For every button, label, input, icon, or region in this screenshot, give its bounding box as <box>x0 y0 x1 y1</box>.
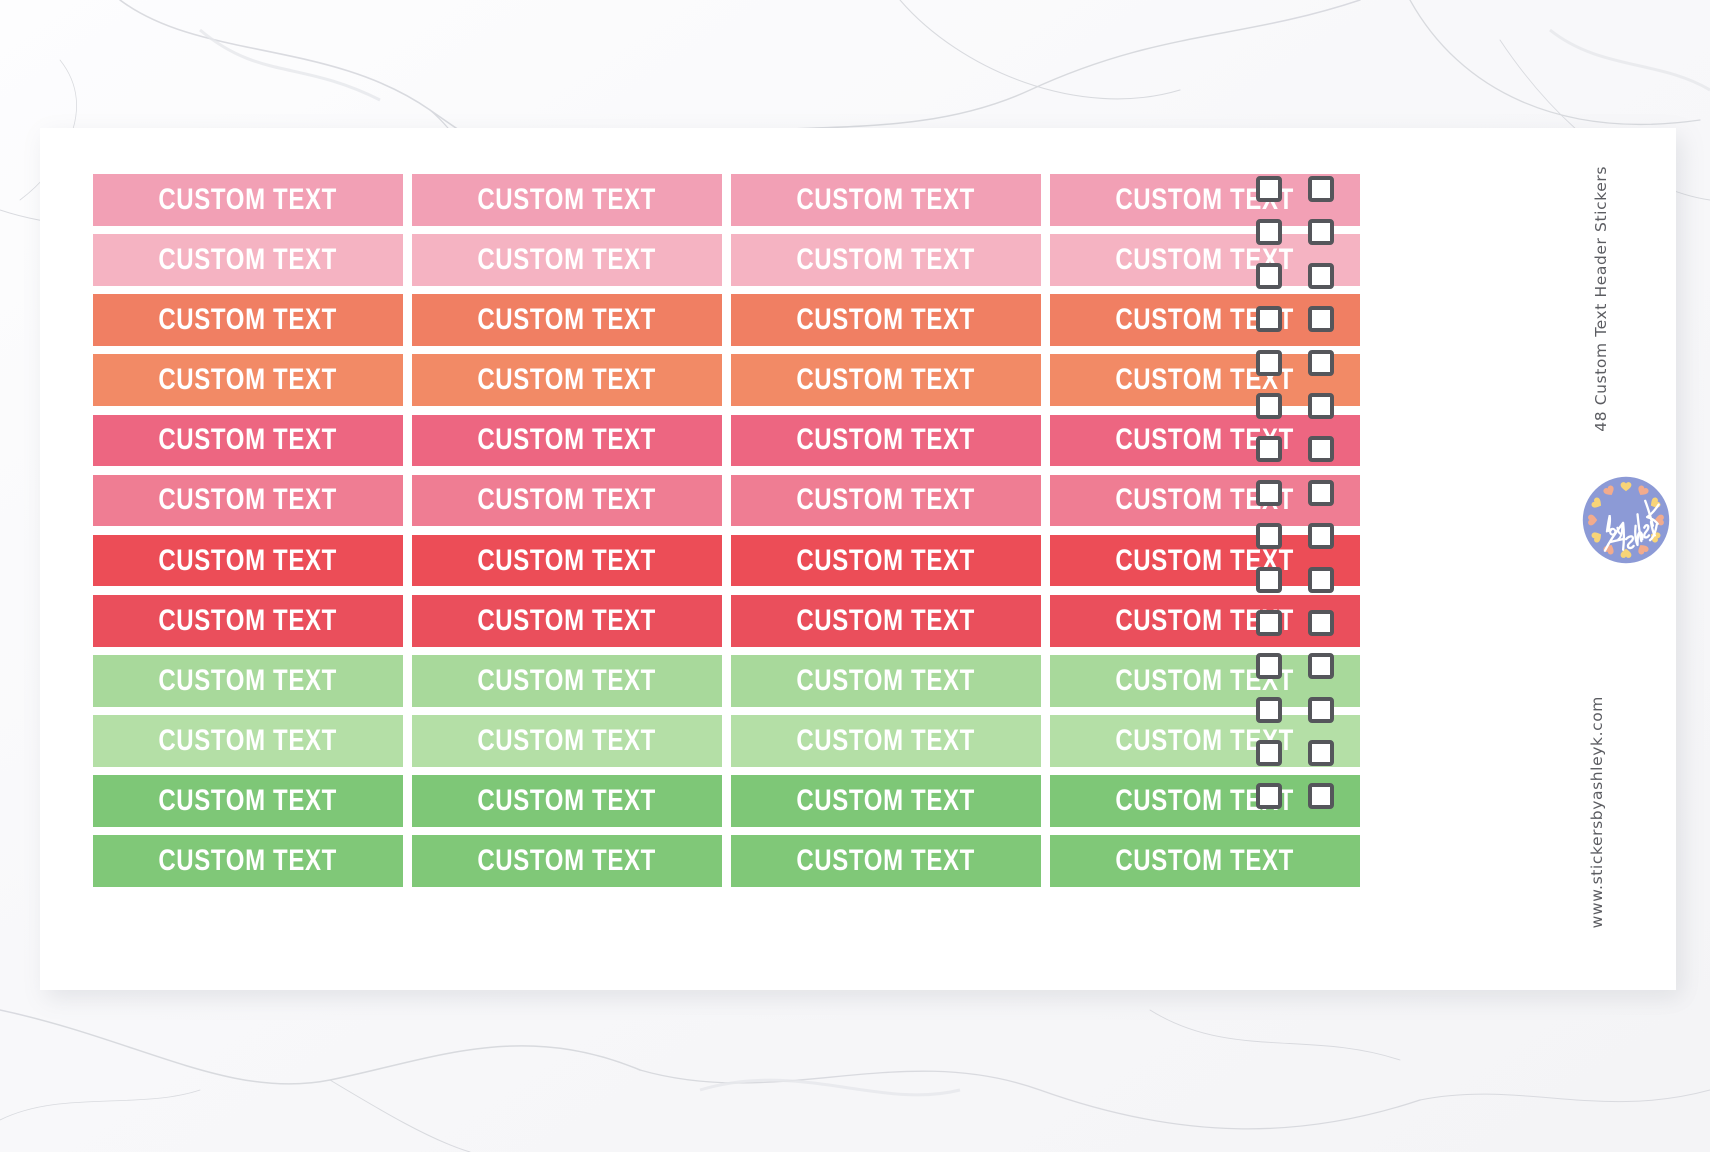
sticker-label-text: CUSTOM TEXT <box>478 185 657 215</box>
sticker-label-text: CUSTOM TEXT <box>478 606 657 636</box>
checkbox-sticker[interactable] <box>1308 783 1334 809</box>
checkbox-sticker[interactable] <box>1256 740 1282 766</box>
sticker-label-text: CUSTOM TEXT <box>797 846 976 876</box>
sticker-label-text: CUSTOM TEXT <box>797 546 976 576</box>
checkbox-sticker[interactable] <box>1308 523 1334 549</box>
sticker-label-text: CUSTOM TEXT <box>159 365 338 395</box>
sticker-label-green-medium-3[interactable]: CUSTOM TEXT <box>731 775 1041 827</box>
sticker-label-rose-light-3[interactable]: CUSTOM TEXT <box>731 475 1041 527</box>
sticker-label-coral-dark-2[interactable]: CUSTOM TEXT <box>412 294 722 346</box>
sticker-label-coral-light-1[interactable]: CUSTOM TEXT <box>93 354 403 406</box>
sticker-label-text: CUSTOM TEXT <box>159 846 338 876</box>
sticker-label-green-light-2[interactable]: CUSTOM TEXT <box>412 655 722 707</box>
sticker-label-pink-medium-3[interactable]: CUSTOM TEXT <box>731 174 1041 226</box>
sticker-label-red-bright-3[interactable]: CUSTOM TEXT <box>731 535 1041 587</box>
sticker-label-pink-light-2[interactable]: CUSTOM TEXT <box>412 234 722 286</box>
sticker-label-text: CUSTOM TEXT <box>478 245 657 275</box>
website-url: www.stickersbyashleyk.com <box>1588 696 1606 928</box>
checkbox-sticker[interactable] <box>1308 436 1334 462</box>
brand-circle-icon <box>1578 472 1674 568</box>
sticker-label-green-light-3[interactable]: CUSTOM TEXT <box>731 655 1041 707</box>
sticker-label-text: CUSTOM TEXT <box>797 666 976 696</box>
sticker-grid: CUSTOM TEXTCUSTOM TEXTCUSTOM TEXTCUSTOM … <box>93 174 1360 887</box>
sticker-row: CUSTOM TEXTCUSTOM TEXTCUSTOM TEXTCUSTOM … <box>93 475 1360 527</box>
sticker-label-green-medium-2[interactable]: CUSTOM TEXT <box>412 775 722 827</box>
sticker-label-text: CUSTOM TEXT <box>478 846 657 876</box>
checkbox-sticker[interactable] <box>1308 740 1334 766</box>
sticker-row: CUSTOM TEXTCUSTOM TEXTCUSTOM TEXTCUSTOM … <box>93 174 1360 226</box>
sticker-label-coral-dark-1[interactable]: CUSTOM TEXT <box>93 294 403 346</box>
checkbox-sticker[interactable] <box>1256 263 1282 289</box>
sticker-label-text: CUSTOM TEXT <box>159 546 338 576</box>
right-rail: 48 Custom Text Header Stickers www.stick… <box>1558 128 1676 990</box>
product-title: 48 Custom Text Header Stickers <box>1592 166 1610 432</box>
checkbox-sticker[interactable] <box>1256 219 1282 245</box>
sticker-label-text: CUSTOM TEXT <box>797 245 976 275</box>
checkbox-sticker[interactable] <box>1308 697 1334 723</box>
sticker-label-text: CUSTOM TEXT <box>478 305 657 335</box>
sticker-label-rose-dark-2[interactable]: CUSTOM TEXT <box>412 415 722 467</box>
sticker-label-text: CUSTOM TEXT <box>478 425 657 455</box>
sticker-label-green-medium-1[interactable]: CUSTOM TEXT <box>93 775 403 827</box>
sticker-row: CUSTOM TEXTCUSTOM TEXTCUSTOM TEXTCUSTOM … <box>93 535 1360 587</box>
sticker-label-text: CUSTOM TEXT <box>478 786 657 816</box>
sticker-label-text: CUSTOM TEXT <box>797 425 976 455</box>
sticker-label-green-medium-2-1[interactable]: CUSTOM TEXT <box>93 835 403 887</box>
checkbox-sticker[interactable] <box>1308 393 1334 419</box>
sticker-label-coral-light-3[interactable]: CUSTOM TEXT <box>731 354 1041 406</box>
checkbox-sticker[interactable] <box>1308 480 1334 506</box>
checkbox-sticker[interactable] <box>1256 697 1282 723</box>
sticker-label-text: CUSTOM TEXT <box>478 546 657 576</box>
checkbox-sticker[interactable] <box>1308 263 1334 289</box>
checkbox-sticker[interactable] <box>1256 436 1282 462</box>
checkbox-sticker[interactable] <box>1308 176 1334 202</box>
checkbox-column-2 <box>1308 176 1334 809</box>
sticker-label-text: CUSTOM TEXT <box>159 425 338 455</box>
sticker-label-rose-dark-1[interactable]: CUSTOM TEXT <box>93 415 403 467</box>
sticker-label-text: CUSTOM TEXT <box>797 786 976 816</box>
checkbox-sticker[interactable] <box>1256 480 1282 506</box>
sticker-label-text: CUSTOM TEXT <box>797 485 976 515</box>
sticker-label-green-medium-2-3[interactable]: CUSTOM TEXT <box>731 835 1041 887</box>
checkbox-sticker[interactable] <box>1308 567 1334 593</box>
sticker-label-rose-light-1[interactable]: CUSTOM TEXT <box>93 475 403 527</box>
brand-badge-logo <box>1578 472 1674 568</box>
checkbox-sticker[interactable] <box>1256 306 1282 332</box>
sticker-label-red-bright-2-1[interactable]: CUSTOM TEXT <box>93 595 403 647</box>
sticker-label-rose-dark-3[interactable]: CUSTOM TEXT <box>731 415 1041 467</box>
sticker-row: CUSTOM TEXTCUSTOM TEXTCUSTOM TEXTCUSTOM … <box>93 234 1360 286</box>
checkbox-sticker[interactable] <box>1308 306 1334 332</box>
sticker-row: CUSTOM TEXTCUSTOM TEXTCUSTOM TEXTCUSTOM … <box>93 775 1360 827</box>
checkbox-sticker[interactable] <box>1308 350 1334 376</box>
sticker-label-coral-light-2[interactable]: CUSTOM TEXT <box>412 354 722 406</box>
sticker-label-text: CUSTOM TEXT <box>478 485 657 515</box>
sticker-label-text: CUSTOM TEXT <box>478 365 657 395</box>
sticker-label-pink-light-1[interactable]: CUSTOM TEXT <box>93 234 403 286</box>
sticker-label-text: CUSTOM TEXT <box>478 726 657 756</box>
sticker-row: CUSTOM TEXTCUSTOM TEXTCUSTOM TEXTCUSTOM … <box>93 415 1360 467</box>
checkbox-sticker[interactable] <box>1256 350 1282 376</box>
sticker-label-green-medium-2-2[interactable]: CUSTOM TEXT <box>412 835 722 887</box>
checkbox-sticker[interactable] <box>1256 176 1282 202</box>
sticker-label-text: CUSTOM TEXT <box>159 485 338 515</box>
sticker-label-text: CUSTOM TEXT <box>159 786 338 816</box>
sticker-label-text: CUSTOM TEXT <box>797 726 976 756</box>
sticker-row: CUSTOM TEXTCUSTOM TEXTCUSTOM TEXTCUSTOM … <box>93 595 1360 647</box>
sticker-label-green-lighter-1[interactable]: CUSTOM TEXT <box>93 715 403 767</box>
sticker-row: CUSTOM TEXTCUSTOM TEXTCUSTOM TEXTCUSTOM … <box>93 715 1360 767</box>
checkbox-sticker[interactable] <box>1256 653 1282 679</box>
sticker-label-rose-light-2[interactable]: CUSTOM TEXT <box>412 475 722 527</box>
sticker-label-green-lighter-2[interactable]: CUSTOM TEXT <box>412 715 722 767</box>
checkbox-sticker[interactable] <box>1308 610 1334 636</box>
checkbox-sticker[interactable] <box>1308 219 1334 245</box>
checkbox-sticker[interactable] <box>1256 567 1282 593</box>
sticker-label-text: CUSTOM TEXT <box>159 305 338 335</box>
sticker-label-red-bright-2[interactable]: CUSTOM TEXT <box>412 535 722 587</box>
checkbox-sticker[interactable] <box>1256 393 1282 419</box>
sticker-label-green-lighter-3[interactable]: CUSTOM TEXT <box>731 715 1041 767</box>
sticker-label-green-light-1[interactable]: CUSTOM TEXT <box>93 655 403 707</box>
sticker-label-text: CUSTOM TEXT <box>159 726 338 756</box>
sticker-label-text: CUSTOM TEXT <box>159 666 338 696</box>
sticker-label-text: CUSTOM TEXT <box>797 305 976 335</box>
sticker-label-text: CUSTOM TEXT <box>159 606 338 636</box>
sticker-row: CUSTOM TEXTCUSTOM TEXTCUSTOM TEXTCUSTOM … <box>93 835 1360 887</box>
sticker-label-coral-dark-3[interactable]: CUSTOM TEXT <box>731 294 1041 346</box>
sticker-label-text: CUSTOM TEXT <box>1116 846 1295 876</box>
sticker-label-green-medium-2-4[interactable]: CUSTOM TEXT <box>1050 835 1360 887</box>
checkbox-sticker[interactable] <box>1256 523 1282 549</box>
sticker-label-pink-medium-1[interactable]: CUSTOM TEXT <box>93 174 403 226</box>
sticker-label-red-bright-1[interactable]: CUSTOM TEXT <box>93 535 403 587</box>
sticker-label-text: CUSTOM TEXT <box>159 185 338 215</box>
checkbox-column-1 <box>1256 176 1282 809</box>
sticker-label-text: CUSTOM TEXT <box>478 666 657 696</box>
sticker-label-pink-light-3[interactable]: CUSTOM TEXT <box>731 234 1041 286</box>
sticker-label-red-bright-2-3[interactable]: CUSTOM TEXT <box>731 595 1041 647</box>
sticker-row: CUSTOM TEXTCUSTOM TEXTCUSTOM TEXTCUSTOM … <box>93 655 1360 707</box>
checkbox-sticker[interactable] <box>1256 783 1282 809</box>
sticker-label-text: CUSTOM TEXT <box>797 606 976 636</box>
sticker-label-red-bright-2-2[interactable]: CUSTOM TEXT <box>412 595 722 647</box>
sticker-row: CUSTOM TEXTCUSTOM TEXTCUSTOM TEXTCUSTOM … <box>93 354 1360 406</box>
sticker-sheet: CUSTOM TEXTCUSTOM TEXTCUSTOM TEXTCUSTOM … <box>40 128 1676 990</box>
sticker-label-text: CUSTOM TEXT <box>159 245 338 275</box>
sticker-label-pink-medium-2[interactable]: CUSTOM TEXT <box>412 174 722 226</box>
checkbox-area <box>1256 176 1376 809</box>
checkbox-sticker[interactable] <box>1308 653 1334 679</box>
sticker-label-text: CUSTOM TEXT <box>797 185 976 215</box>
sticker-row: CUSTOM TEXTCUSTOM TEXTCUSTOM TEXTCUSTOM … <box>93 294 1360 346</box>
checkbox-sticker[interactable] <box>1256 610 1282 636</box>
sticker-label-text: CUSTOM TEXT <box>797 365 976 395</box>
